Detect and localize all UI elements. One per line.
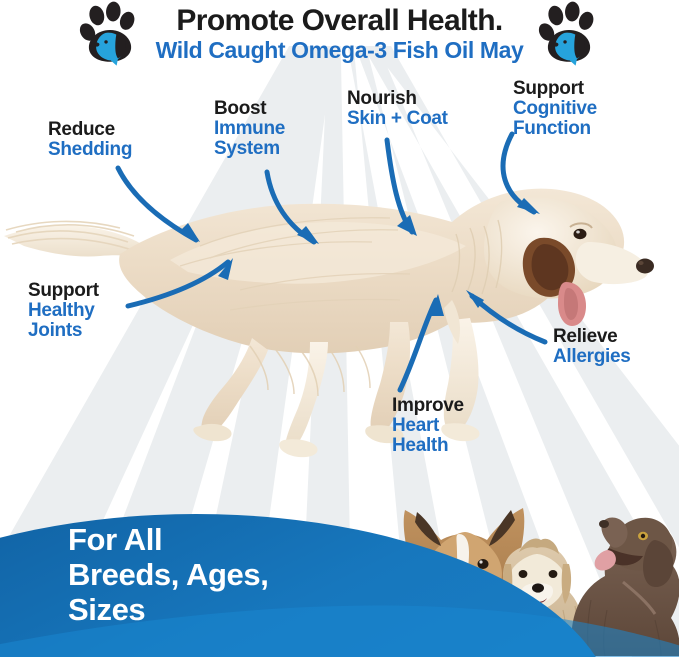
benefit-line-2: Skin + Coat	[347, 109, 448, 129]
page-title: Promote Overall Health.	[156, 6, 524, 36]
benefit-label-support-joints: Support Healthy Joints	[28, 281, 99, 341]
benefit-line-1: Reduce	[48, 120, 132, 140]
hero-dog-photo	[0, 150, 679, 480]
banner-line-1: For All	[68, 522, 268, 557]
header-text-block: Promote Overall Health. Wild Caught Omeg…	[156, 6, 524, 62]
benefit-label-boost-immune: Boost Immune System	[214, 99, 285, 159]
header-bar: Promote Overall Health. Wild Caught Omeg…	[0, 0, 679, 68]
benefit-label-support-cognitive: Support Cognitive Function	[513, 79, 597, 139]
benefit-line-1: Nourish	[347, 89, 448, 109]
benefit-line-2: Allergies	[553, 347, 631, 367]
benefit-line-2: Heart	[392, 416, 464, 436]
benefit-label-improve-heart: Improve Heart Health	[392, 396, 464, 456]
benefit-line-3: System	[214, 139, 285, 159]
benefit-line-2: Healthy	[28, 301, 99, 321]
paw-dog-logo-right	[535, 1, 603, 67]
benefit-label-reduce-shedding: Reduce Shedding	[48, 120, 132, 160]
benefit-line-3: Joints	[28, 321, 99, 341]
benefit-line-1: Support	[28, 281, 99, 301]
benefit-line-2: Shedding	[48, 140, 132, 160]
paw-dog-logo-left	[76, 1, 144, 67]
benefit-line-1: Support	[513, 79, 597, 99]
benefit-line-1: Boost	[214, 99, 285, 119]
benefit-label-nourish-skin-coat: Nourish Skin + Coat	[347, 89, 448, 129]
banner-line-3: Sizes	[68, 592, 268, 627]
bottom-band: For All Breeds, Ages, Sizes	[0, 470, 679, 657]
benefit-line-2: Immune	[214, 119, 285, 139]
benefit-line-2: Cognitive	[513, 99, 597, 119]
banner-headline: For All Breeds, Ages, Sizes	[68, 522, 268, 627]
benefit-line-3: Function	[513, 119, 597, 139]
benefit-line-3: Health	[392, 436, 464, 456]
benefit-line-1: Improve	[392, 396, 464, 416]
benefit-label-relieve-allergies: Relieve Allergies	[553, 327, 631, 367]
banner-line-2: Breeds, Ages,	[68, 557, 268, 592]
benefit-line-1: Relieve	[553, 327, 631, 347]
infographic-canvas: Promote Overall Health. Wild Caught Omeg…	[0, 0, 679, 657]
page-subtitle: Wild Caught Omega-3 Fish Oil May	[156, 39, 524, 62]
